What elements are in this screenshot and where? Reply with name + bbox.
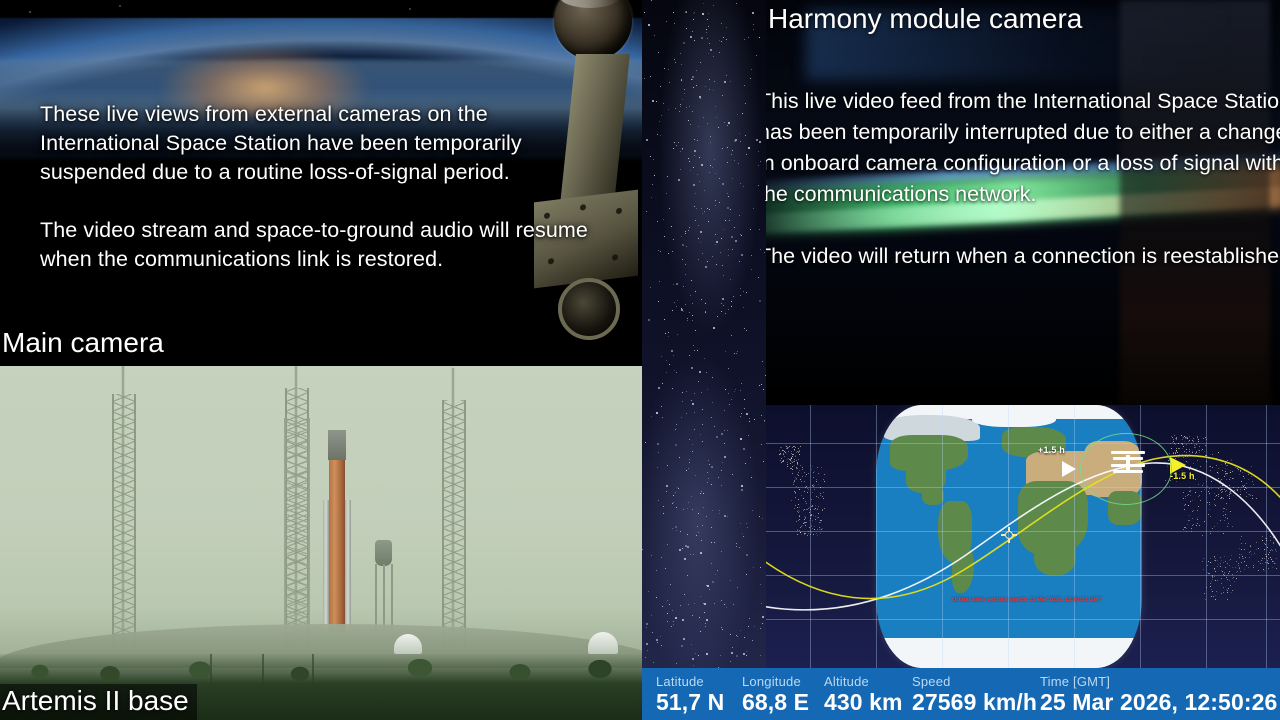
latitude-value: 51,7 N (656, 689, 742, 715)
marker-ahead-triangle (1062, 461, 1076, 477)
telemetry-bar: Latitude 51,7 N Longitude 68,8 E Altitud… (642, 668, 1280, 720)
harmony-camera-panel[interactable]: Harmony module camera This live video fe… (766, 0, 1280, 405)
left-column: These live views from external cameras o… (0, 0, 642, 720)
water-tower-graphic (372, 540, 394, 632)
solid-booster-right (345, 500, 351, 632)
telemetry-longitude: Longitude 68,8 E (742, 674, 824, 715)
altitude-value: 430 km (824, 689, 912, 715)
orbit-label-behind: -1.5 h (1170, 471, 1195, 481)
sls-rocket-graphic (322, 432, 352, 632)
telemetry-speed: Speed 27569 km/h (912, 674, 1040, 715)
los-paragraph-1: These live views from external cameras o… (40, 100, 610, 187)
mobile-launcher-tower (284, 418, 310, 632)
main-camera-label: Main camera (0, 326, 172, 362)
orbit-tracks (766, 405, 1280, 668)
starfield-divider (642, 0, 766, 668)
time-value: 25 Mar 2026, 12:50:26 (1040, 689, 1277, 715)
artemis-pad-label: Artemis II base (0, 684, 197, 720)
ground-track-map[interactable]: +1.5 h -1.5 h Orbital state vectors epoc… (766, 405, 1280, 668)
harmony-interruption-message: This live video feed from the Internatio… (766, 86, 1280, 272)
altitude-label: Altitude (824, 674, 912, 689)
time-label: Time [GMT] (1040, 674, 1277, 689)
epoch-annotation: Orbital state vectors epoch: 25 Mar 2026… (952, 597, 1102, 603)
latitude-label: Latitude (656, 674, 742, 689)
harmony-paragraph-1: This live video feed from the Internatio… (766, 86, 1280, 210)
longitude-label: Longitude (742, 674, 824, 689)
orion-capsule (328, 430, 346, 460)
main-camera-panel[interactable]: These live views from external cameras o… (0, 0, 642, 366)
ground-track-yellow (766, 456, 1280, 599)
harmony-paragraph-2: The video will return when a connection … (766, 241, 1280, 272)
iss-position-marker (1111, 447, 1147, 481)
harmony-camera-label: Harmony module camera (766, 2, 1090, 38)
telemetry-altitude: Altitude 430 km (824, 674, 912, 715)
loss-of-signal-message: These live views from external cameras o… (40, 100, 610, 274)
screen-root: These live views from external cameras o… (0, 0, 1280, 720)
telemetry-time: Time [GMT] 25 Mar 2026, 12:50:26 (1040, 674, 1277, 715)
speed-label: Speed (912, 674, 1040, 689)
camera-lens-icon (558, 278, 620, 340)
star-layer (642, 0, 766, 668)
core-stage (329, 457, 345, 632)
storage-dome-1 (394, 634, 422, 654)
subsolar-point-icon (1001, 527, 1017, 543)
artemis-pad-camera-panel[interactable]: Artemis II base (0, 366, 642, 720)
longitude-value: 68,8 E (742, 689, 824, 715)
speed-value: 27569 km/h (912, 689, 1040, 715)
orbit-label-ahead: +1.5 h (1038, 445, 1065, 455)
antenna-dish-icon (554, 0, 632, 60)
ground-track-white (766, 463, 1280, 610)
telemetry-latitude: Latitude 51,7 N (656, 674, 742, 715)
los-paragraph-2: The video stream and space-to-ground aud… (40, 216, 610, 274)
